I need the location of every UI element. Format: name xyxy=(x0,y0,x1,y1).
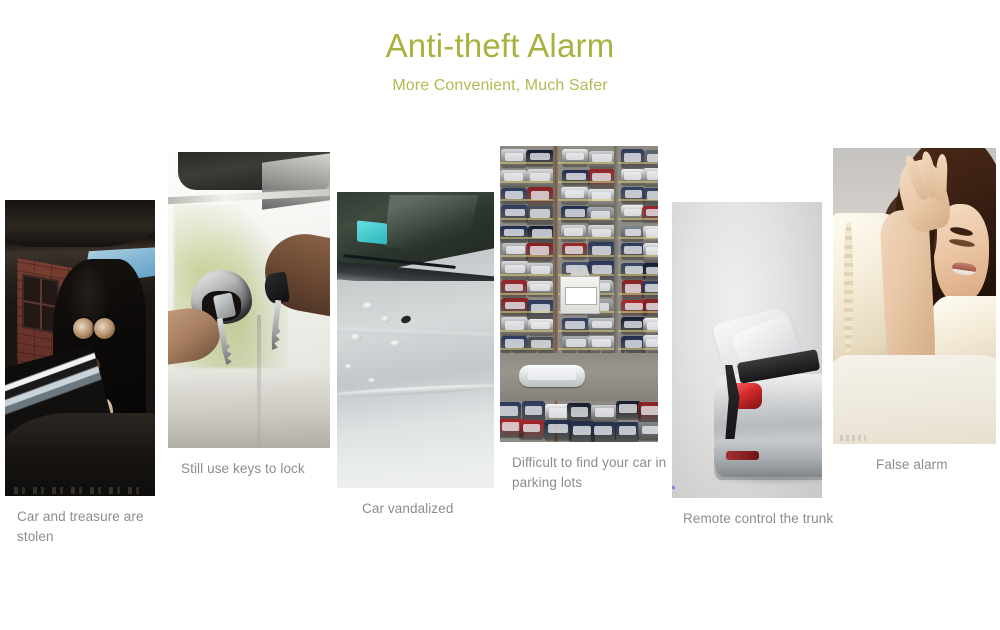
feature-caption: Remote control the trunk xyxy=(672,498,848,529)
parked-car xyxy=(591,405,618,423)
lower-shadow xyxy=(168,365,330,448)
feature-caption: Still use keys to lock xyxy=(168,448,343,479)
image-parking-lot xyxy=(500,146,658,442)
image-watermark xyxy=(14,487,146,494)
feature-item-trunk: Remote control the trunk xyxy=(672,202,822,529)
feature-item-parking-lot: Difficult to find your car in parking lo… xyxy=(500,146,658,493)
car-roof-interior xyxy=(5,200,155,247)
feature-caption: False alarm xyxy=(833,444,1000,475)
parked-car xyxy=(638,422,658,441)
feature-caption: Difficult to find your car in parking lo… xyxy=(500,442,682,493)
image-watermark xyxy=(840,435,866,441)
pillow-lace-trim xyxy=(844,222,852,352)
hood-fade xyxy=(337,447,494,488)
feature-item-false-alarm: False alarm xyxy=(833,148,996,475)
feature-item-keys: Still use keys to lock xyxy=(168,152,330,479)
image-keys-at-door xyxy=(168,152,330,448)
image-car-vandalized xyxy=(337,192,494,488)
hood-dent xyxy=(345,364,353,370)
bed-sheet xyxy=(833,355,996,444)
parked-car xyxy=(615,422,639,442)
parked-car xyxy=(544,420,572,440)
car-shadow xyxy=(705,471,822,486)
parked-car xyxy=(519,420,543,439)
feature-gallery: Car and treasure are stolen Still us xyxy=(0,0,1000,630)
car-window-reflection xyxy=(262,153,330,210)
parked-cars-lower xyxy=(500,146,658,442)
image-remote-trunk xyxy=(672,202,822,498)
car-in-drive-lane xyxy=(519,365,585,387)
thief-eye-left xyxy=(73,318,94,339)
thief-eye-right xyxy=(94,318,115,339)
image-false-alarm xyxy=(833,148,996,444)
bumper-reflector xyxy=(726,451,759,460)
hood-dent xyxy=(362,302,375,311)
car-door-interior xyxy=(5,413,155,496)
parked-car xyxy=(591,422,616,442)
feature-item-vandalized: Car vandalized xyxy=(337,192,494,519)
parked-car xyxy=(638,402,658,422)
dashboard-object xyxy=(357,220,387,244)
feature-item-stolen: Car and treasure are stolen xyxy=(5,200,155,547)
image-masked-thief xyxy=(5,200,155,496)
woman-finger xyxy=(935,154,948,202)
feature-caption: Car and treasure are stolen xyxy=(5,496,167,547)
